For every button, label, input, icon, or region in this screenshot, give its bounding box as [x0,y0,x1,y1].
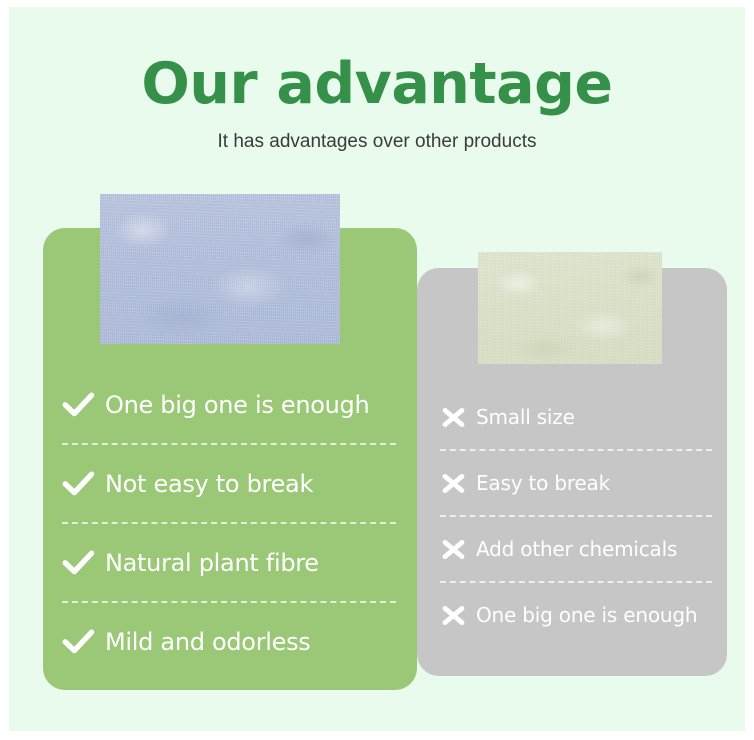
check-icon [62,470,95,498]
list-item-label: One big one is enough [476,603,697,627]
check-icon [62,549,95,577]
list-item: Mild and odorless [62,618,402,665]
sage-fabric-swatch-image [478,252,662,364]
page-title: Our advantage [0,0,754,116]
cross-icon [440,472,467,495]
pros-list: One big one is enough Not easy to break … [62,381,402,665]
cross-icon [440,406,467,429]
list-item-label: Mild and odorless [105,628,311,656]
list-item-label: Easy to break [476,471,610,495]
cross-icon [440,604,467,627]
list-item-label: Natural plant fibre [105,549,319,577]
cons-list: Small size Easy to break Add other chemi… [440,397,716,635]
poster-canvas: Our advantage It has advantages over oth… [0,0,754,740]
list-item-label: Not easy to break [105,470,313,498]
list-item-label: Small size [476,405,575,429]
list-item: Easy to break [440,463,716,503]
header: Our advantage It has advantages over oth… [0,0,754,154]
list-divider [62,601,396,603]
page-subtitle: It has advantages over other products [0,116,754,154]
list-item: One big one is enough [62,381,402,428]
list-divider [62,443,396,445]
list-divider [440,515,712,517]
list-divider [62,522,396,524]
list-item: Not easy to break [62,460,402,507]
blue-fabric-swatch-image [100,194,340,344]
list-item-label: Add other chemicals [476,537,677,561]
list-item: Small size [440,397,716,437]
list-item: Add other chemicals [440,529,716,569]
list-item: One big one is enough [440,595,716,635]
list-item: Natural plant fibre [62,539,402,586]
check-icon [62,391,95,419]
list-divider [440,581,712,583]
cross-icon [440,538,467,561]
check-icon [62,628,95,656]
list-divider [440,449,712,451]
list-item-label: One big one is enough [105,391,369,419]
